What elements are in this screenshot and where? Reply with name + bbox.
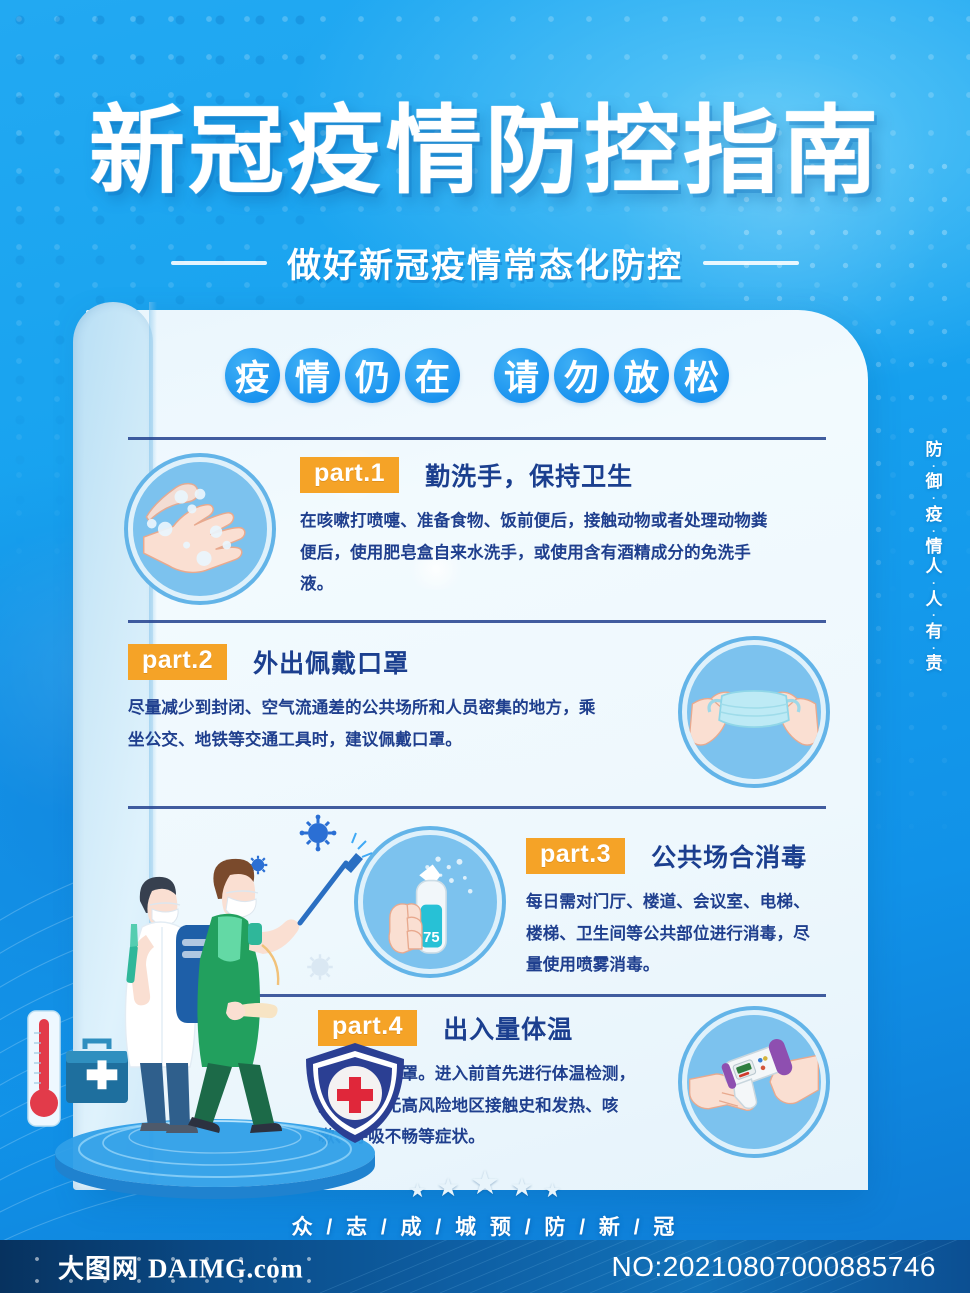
side-slogan-separator: · [932,642,936,655]
side-slogan-separator: · [932,577,936,590]
star-icon: ★ [470,1163,500,1203]
side-slogan-char-8: 人 [926,558,943,576]
section-part-2: part.2 外出佩戴口罩 尽量减少到封闭、空气流通差的公共场所和人员密集的地方… [128,640,826,784]
divider-1 [128,437,826,440]
section-4-title: 出入量体温 [443,1010,573,1046]
side-slogan-char-1: 防 [926,441,943,459]
side-slogan-char-10: 人 [926,591,943,609]
star-icon: ★ [436,1172,459,1203]
section-part-1: part.1 勤洗手，保持卫生 在咳嗽打喷嚏、准备食物、饭前便后，接触动物或者处… [128,457,826,601]
medical-workers-illustration [0,805,420,1205]
side-slogan-char-14: 责 [926,655,943,673]
subtitle-dash-left [171,261,267,265]
poster-root: 新冠疫情防控指南 做好新冠疫情常态化防控 防·御·疫·情人·人·有·责 疫情仍在… [0,0,970,1293]
bottom-slogan: 众 / 志 / 成 / 城 预 / 防 / 新 / 冠 [0,1211,970,1241]
divider-2 [128,620,826,623]
page-title: 新冠疫情防控指南 [0,104,970,200]
infrared-thermometer-icon [682,1010,826,1154]
footer-brand-cn: 大图网 [58,1248,139,1285]
section-part-3: 75 part.3 公共场合消毒 [358,830,826,982]
section-1-title: 勤洗手，保持卫生 [425,457,633,493]
section-1-text: part.1 勤洗手，保持卫生 在咳嗽打喷嚏、准备食物、饭前便后，接触动物或者处… [300,457,826,601]
headline-char-7: 放 [614,348,669,403]
star-row: ★★★★★ [0,1163,970,1203]
headline-char-4: 在 [405,348,460,403]
headline-char-5: 请 [494,348,549,403]
headline-char-3: 仍 [345,348,400,403]
headline-char-6: 勿 [554,348,609,403]
section-3-head: part.3 公共场合消毒 [526,838,826,874]
side-slogan-separator: · [932,525,936,538]
star-icon: ★ [409,1178,427,1203]
face-mask-icon [682,640,826,784]
subtitle-dash-right [703,261,799,265]
page-subtitle: 做好新冠疫情常态化防控 [287,238,683,287]
side-slogan-char-12: 有 [926,623,943,641]
footer-number: NO:20210807000885746 [611,1251,936,1283]
section-1-badge: part.1 [300,457,399,493]
side-slogan-separator: · [932,609,936,622]
headline-char-1: 疫 [225,348,280,403]
section-1-body: 在咳嗽打喷嚏、准备食物、饭前便后，接触动物或者处理动物粪便后，使用肥皂盒自来水洗… [300,506,770,601]
section-2-text: part.2 外出佩戴口罩 尽量减少到封闭、空气流通差的公共场所和人员密集的地方… [128,640,654,756]
headline-char-8: 松 [674,348,729,403]
footer-bar: 大图网 DAIMG.com NO:20210807000885746 [0,1240,970,1293]
section-2-head: part.2 外出佩戴口罩 [128,644,654,680]
star-icon: ★ [510,1172,533,1203]
side-slogan-char-7: 情 [926,538,943,556]
side-slogan-separator: · [932,460,936,473]
svg-text:75: 75 [423,930,439,946]
section-2-body: 尽量减少到封闭、空气流通差的公共场所和人员密集的地方，乘坐公交、地铁等交通工具时… [128,693,608,756]
side-slogan: 防·御·疫·情人·人·有·责 [916,440,952,674]
side-slogan-separator: · [932,492,936,505]
card-headline: 疫情仍在请勿放松 [86,348,868,403]
headline-char-2: 情 [285,348,340,403]
section-3-body: 每日需对门厅、楼道、会议室、电梯、楼梯、卫生间等公共部位进行消毒，尽量使用喷雾消… [526,887,826,982]
section-3-badge: part.3 [526,838,625,874]
subtitle-row: 做好新冠疫情常态化防控 [0,238,970,287]
side-slogan-char-3: 御 [926,473,943,491]
footer-brand[interactable]: 大图网 DAIMG.com [58,1248,303,1285]
star-icon: ★ [544,1178,562,1203]
section-2-badge: part.2 [128,644,227,680]
section-1-head: part.1 勤洗手，保持卫生 [300,457,826,493]
section-3-title: 公共场合消毒 [651,838,807,874]
footer-brand-en: DAIMG.com [148,1253,303,1284]
handwash-icon [128,457,272,601]
section-2-title: 外出佩戴口罩 [253,644,409,680]
side-slogan-char-5: 疫 [926,506,943,524]
section-3-text: part.3 公共场合消毒 每日需对门厅、楼道、会议室、电梯、楼梯、卫生间等公共… [526,830,826,982]
